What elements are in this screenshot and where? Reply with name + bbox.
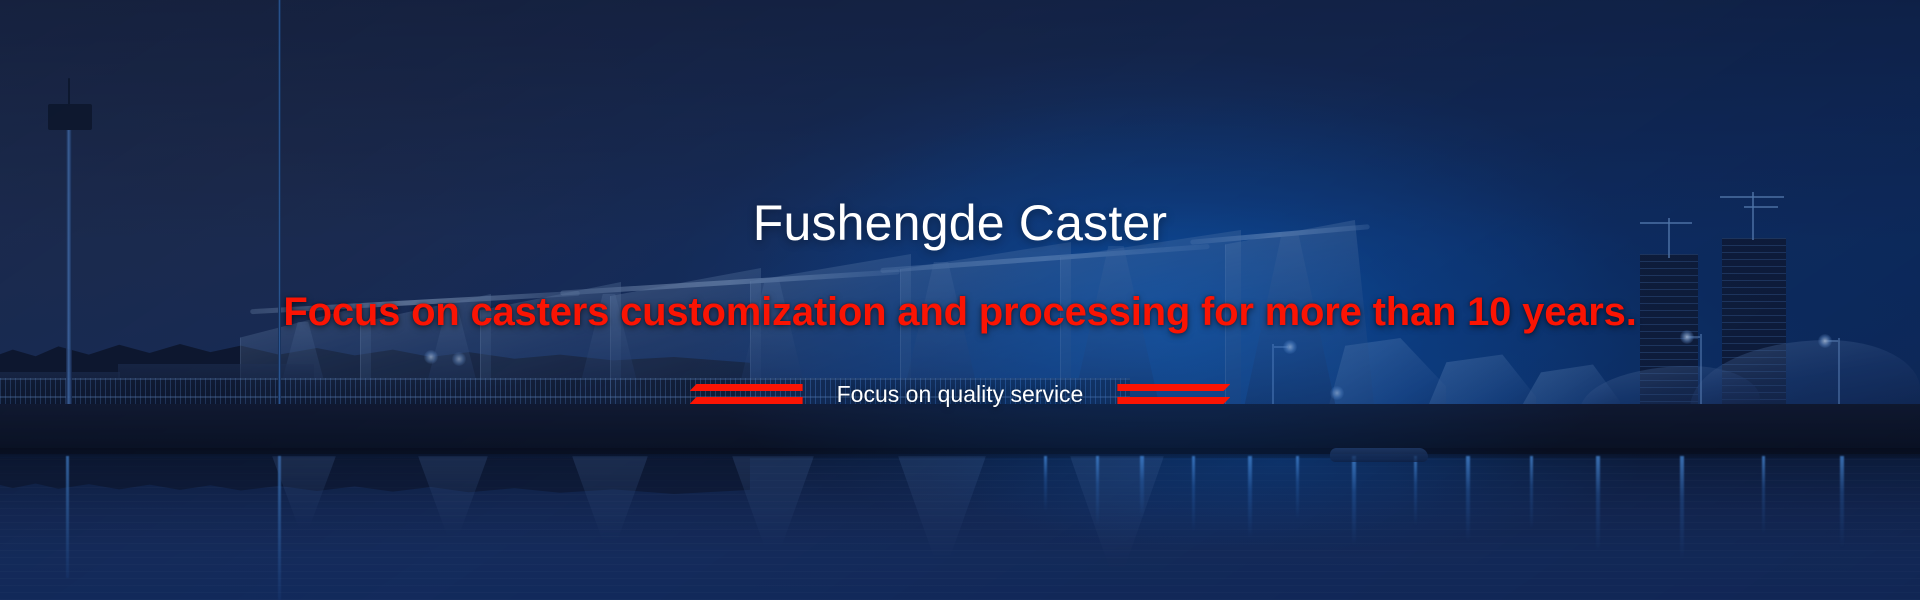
double-slash-bars-right-icon [1117, 382, 1230, 406]
banner-subheadline: Focus on casters customization and proce… [0, 292, 1920, 332]
double-slash-bars-left-icon [690, 382, 803, 406]
hero-banner: Fushengde Caster Focus on casters custom… [0, 0, 1920, 600]
left-bar-upper [690, 384, 803, 391]
right-bar-lower [1117, 397, 1230, 404]
tagline-row: Focus on quality service [0, 382, 1920, 406]
left-bar-lower [690, 397, 803, 404]
right-bar-upper [1117, 384, 1230, 391]
banner-tagline: Focus on quality service [837, 383, 1084, 406]
banner-copy: Fushengde Caster Focus on casters custom… [0, 0, 1920, 600]
banner-headline: Fushengde Caster [0, 198, 1920, 248]
